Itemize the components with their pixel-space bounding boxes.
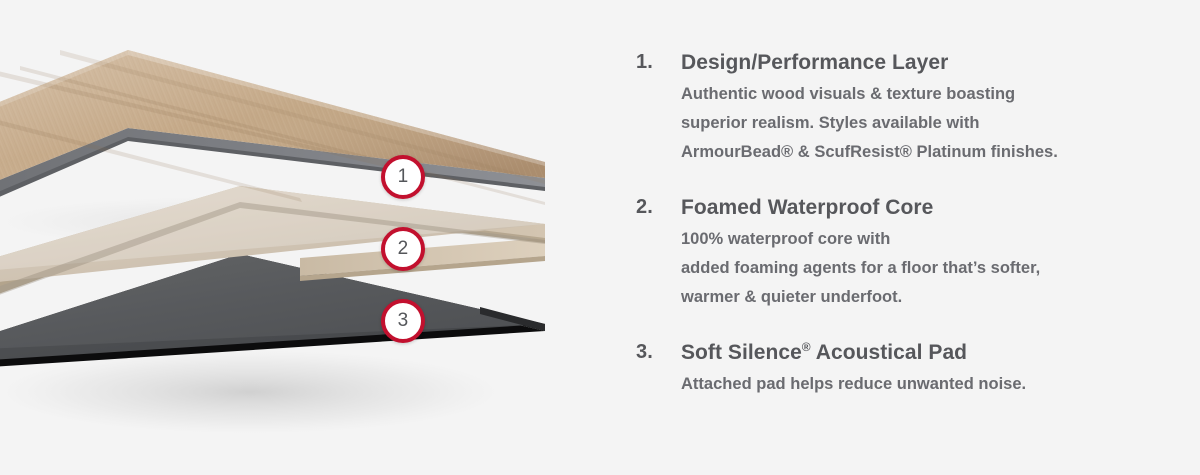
legend-description-line: ArmourBead® & ScufResist® Platinum finis… (681, 138, 1156, 167)
legend-title-suffix: Acoustical Pad (811, 341, 967, 364)
legend-description-2: 100% waterproof core with added foaming … (681, 225, 1156, 312)
legend-item-foamed-waterproof-core: 2. Foamed Waterproof Core 100% waterproo… (636, 193, 1156, 312)
legend-title-2: Foamed Waterproof Core (681, 193, 1156, 223)
callout-number: 2 (398, 238, 409, 260)
legend-index-3: 3. (636, 338, 681, 367)
callout-number: 1 (398, 166, 409, 188)
legend-description-3: Attached pad helps reduce unwanted noise… (681, 370, 1156, 399)
legend-item-design-performance-layer: 1. Design/Performance Layer Authentic wo… (636, 48, 1156, 167)
legend-title-main: Soft Silence (681, 341, 802, 364)
legend-description-line: Authentic wood visuals & texture boastin… (681, 80, 1156, 109)
layer-design-performance (0, 50, 545, 214)
registered-trademark-icon: ® (802, 340, 811, 354)
legend-index-2: 2. (636, 193, 681, 222)
legend-description-line: warmer & quieter underfoot. (681, 283, 1156, 312)
legend-description-line: Attached pad helps reduce unwanted noise… (681, 370, 1156, 399)
callout-marker-1[interactable]: 1 (381, 155, 425, 199)
legend-index-1: 1. (636, 48, 681, 77)
legend-title-3: Soft Silence® Acoustical Pad (681, 338, 1156, 368)
legend-description-line: superior realism. Styles available with (681, 109, 1156, 138)
legend-description-1: Authentic wood visuals & texture boastin… (681, 80, 1156, 167)
layer-construction-diagram: 1 2 3 1. Design/Performance Layer Authen… (0, 0, 1200, 475)
callout-marker-3[interactable]: 3 (381, 299, 425, 343)
stack-shadow (0, 350, 500, 434)
callout-number: 3 (398, 310, 409, 332)
legend-item-soft-silence-acoustical-pad: 3. Soft Silence® Acoustical Pad Attached… (636, 338, 1156, 399)
legend-description-line: 100% waterproof core with (681, 225, 1156, 254)
callout-marker-2[interactable]: 2 (381, 227, 425, 271)
plank-illustration: 1 2 3 (0, 0, 600, 475)
legend-title-1: Design/Performance Layer (681, 48, 1156, 78)
layer-legend-list: 1. Design/Performance Layer Authentic wo… (636, 48, 1156, 399)
legend-description-line: added foaming agents for a floor that’s … (681, 254, 1156, 283)
